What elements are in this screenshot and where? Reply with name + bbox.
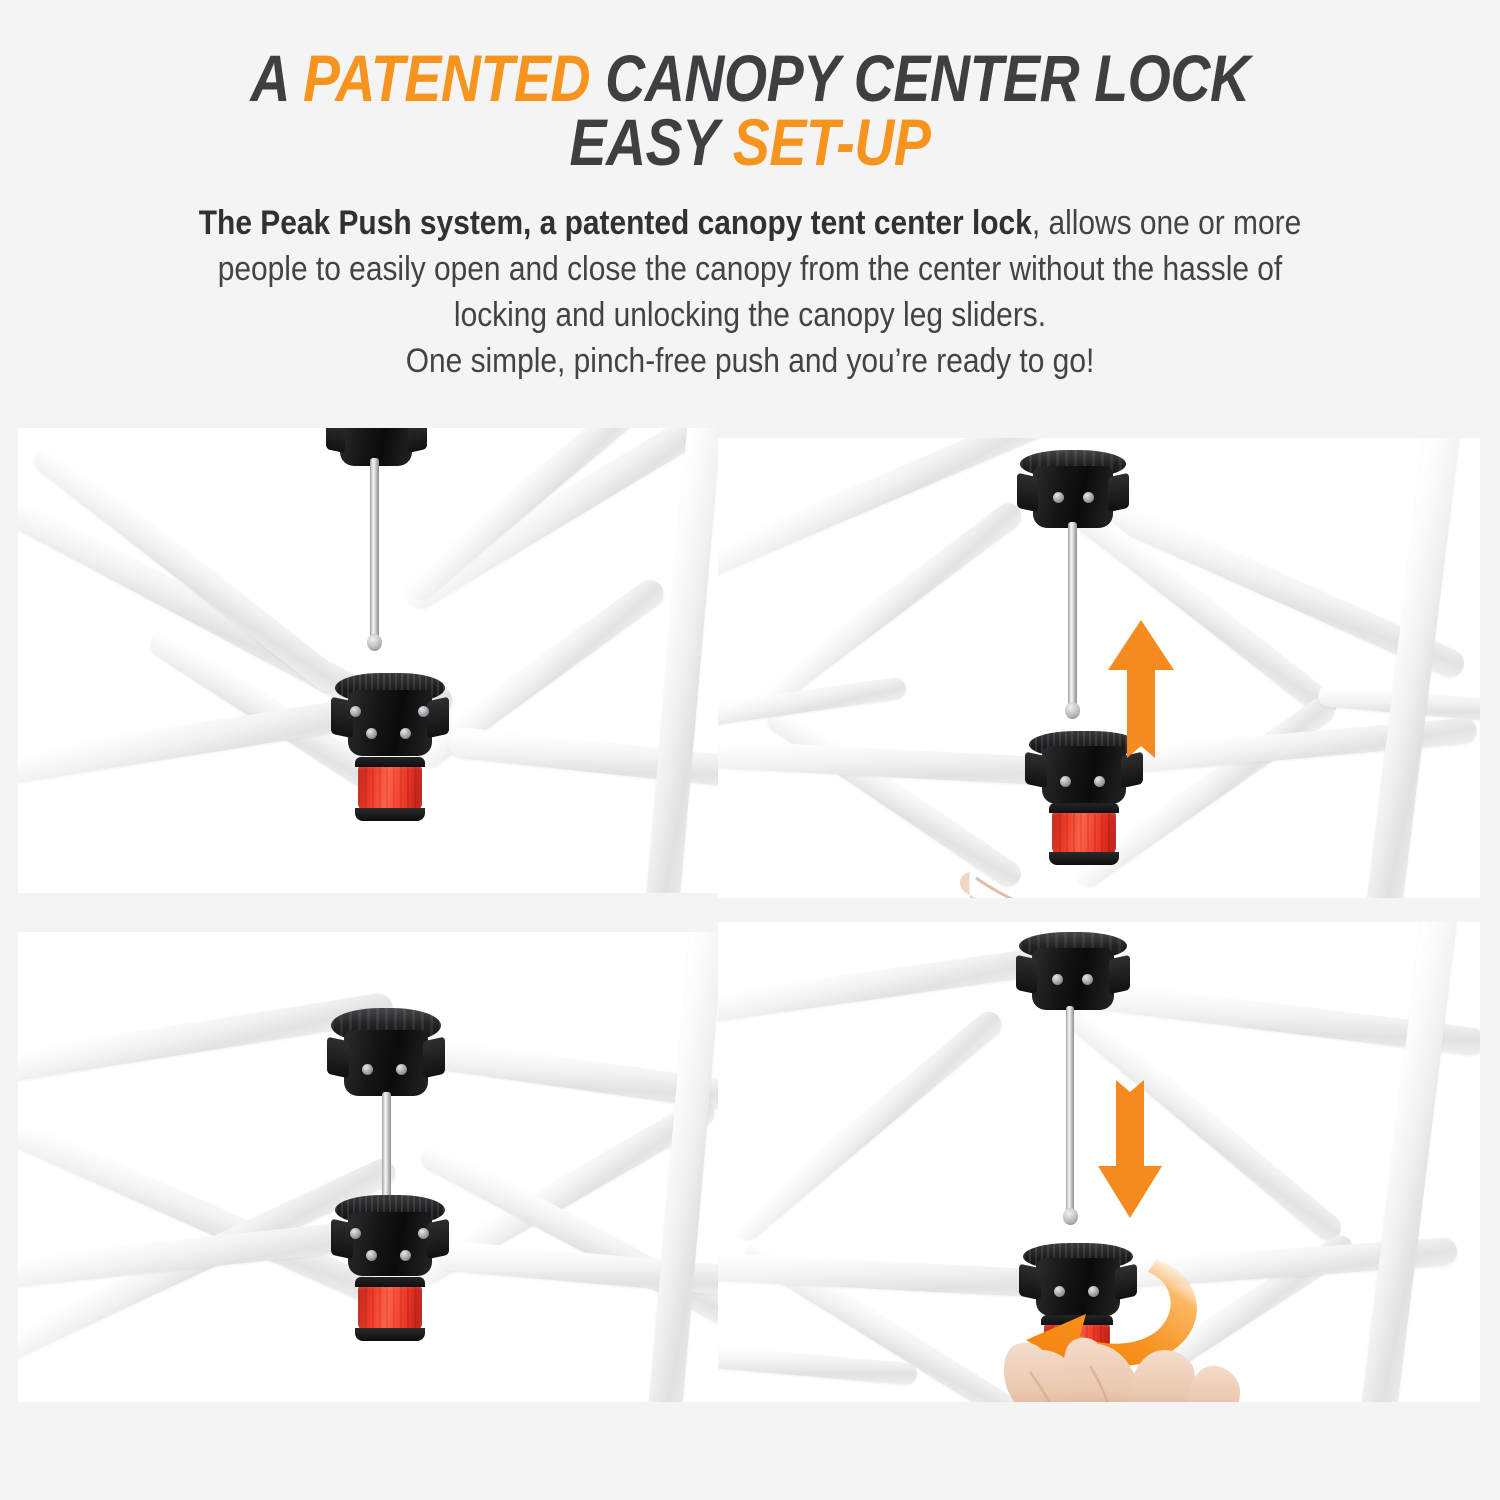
hub-rivet: [1083, 492, 1094, 503]
hub-wing-right: [423, 1037, 445, 1079]
arrow-up-icon: [1106, 618, 1176, 768]
image-grid: [0, 420, 1500, 1420]
hub-wing-left: [327, 1037, 349, 1079]
description-line-4: One simple, pinch-free push and you’re r…: [169, 338, 1331, 384]
description-line-2: people to easily open and close the cano…: [169, 246, 1331, 292]
center-lock-rod: [1066, 1006, 1074, 1216]
headline-accent-setup: SET-UP: [733, 105, 931, 179]
center-lock-rod: [370, 458, 379, 643]
panel-4-hand-twisting-lock-down: [718, 922, 1480, 1402]
hub-wing-left: [331, 697, 353, 739]
hub-rivet: [350, 1228, 361, 1239]
hub-wing-right: [408, 428, 427, 453]
hub-body: [1033, 466, 1113, 528]
hub-wing-right: [1109, 954, 1130, 993]
hub-rivet: [1060, 776, 1071, 787]
hand-open-palm: [956, 830, 1376, 898]
canopy-peak-hub: [1033, 466, 1113, 528]
hand-pinching-fingers: [994, 1322, 1294, 1402]
frame-tube-eave: [718, 676, 907, 730]
description-line-3: locking and unlocking the canopy leg sli…: [169, 292, 1331, 338]
center-lock-rod-tip: [1065, 702, 1080, 719]
center-lock-hub: [348, 1212, 432, 1276]
red-center-lock: [358, 764, 422, 812]
description-line-1-rest: , allows one or more: [1032, 204, 1301, 242]
hub-rivet: [1052, 974, 1063, 985]
page-title: A PATENTED CANOPY CENTER LOCK EASY SET-U…: [120, 46, 1380, 174]
hub-rivet: [350, 706, 361, 717]
hub-wing-right: [427, 697, 449, 739]
arrow-down-icon: [1096, 1070, 1164, 1220]
hub-wing-right: [1108, 472, 1129, 511]
infographic-page: A PATENTED CANOPY CENTER LOCK EASY SET-U…: [0, 0, 1500, 1500]
hub-rivet: [366, 1250, 377, 1261]
panel-1-canopy-frame-extended-unlocked: [18, 428, 718, 893]
description-paragraph: The Peak Push system, a patented canopy …: [169, 200, 1331, 384]
panel-2-hand-pushing-lock-up: [718, 438, 1480, 898]
hub-body: [348, 1212, 432, 1276]
hub-rivet: [400, 1250, 411, 1261]
headline-line-1: A PATENTED CANOPY CENTER LOCK: [120, 46, 1380, 110]
red-center-lock: [358, 1284, 422, 1332]
frame-tube-eave: [718, 944, 1066, 1027]
hub-wing-left: [331, 1219, 353, 1259]
headline-prefix: A: [250, 41, 303, 115]
hub-wing-left: [1016, 954, 1037, 993]
center-lock-rod-tip: [1063, 1208, 1078, 1225]
frame-tube: [730, 1006, 1007, 1244]
hub-rivet: [1053, 492, 1064, 503]
canopy-peak-hub: [1032, 948, 1114, 1010]
hub-rivet: [1094, 776, 1105, 787]
center-lock-rod: [1068, 522, 1077, 712]
hub-wing-right: [427, 1219, 449, 1259]
hub-rivet: [366, 728, 377, 739]
frame-leg-tube: [642, 428, 718, 893]
frame-leg-tube: [1356, 922, 1460, 1402]
hub-rivet: [362, 1064, 373, 1075]
hub-rivet: [396, 1064, 407, 1075]
frame-leg-tube: [643, 932, 718, 1402]
headline-suffix: CANOPY CENTER LOCK: [590, 41, 1249, 115]
description-bold-lead: The Peak Push system, a patented canopy …: [199, 204, 1032, 242]
center-lock-hub: [348, 690, 432, 756]
canopy-peak-hub: [344, 1030, 428, 1096]
headline-line-2: EASY SET-UP: [120, 110, 1380, 174]
description-line-1: The Peak Push system, a patented canopy …: [169, 200, 1331, 246]
hub-body: [348, 690, 432, 756]
headline-accent-patented: PATENTED: [303, 41, 590, 115]
hub-body: [344, 1030, 428, 1096]
hub-wing-left: [326, 428, 345, 453]
hub-body: [1032, 948, 1114, 1010]
hub-wing-left: [1025, 752, 1047, 789]
hub-rivet: [418, 1228, 429, 1239]
center-lock-rod-tip: [367, 634, 382, 651]
hub-rivet: [400, 728, 411, 739]
panel-3-canopy-frame-locked: [18, 932, 718, 1402]
hub-rivet: [1082, 974, 1093, 985]
hub-wing-left: [1017, 472, 1038, 511]
hub-rivet: [418, 706, 429, 717]
headline-easy: EASY: [569, 105, 732, 179]
